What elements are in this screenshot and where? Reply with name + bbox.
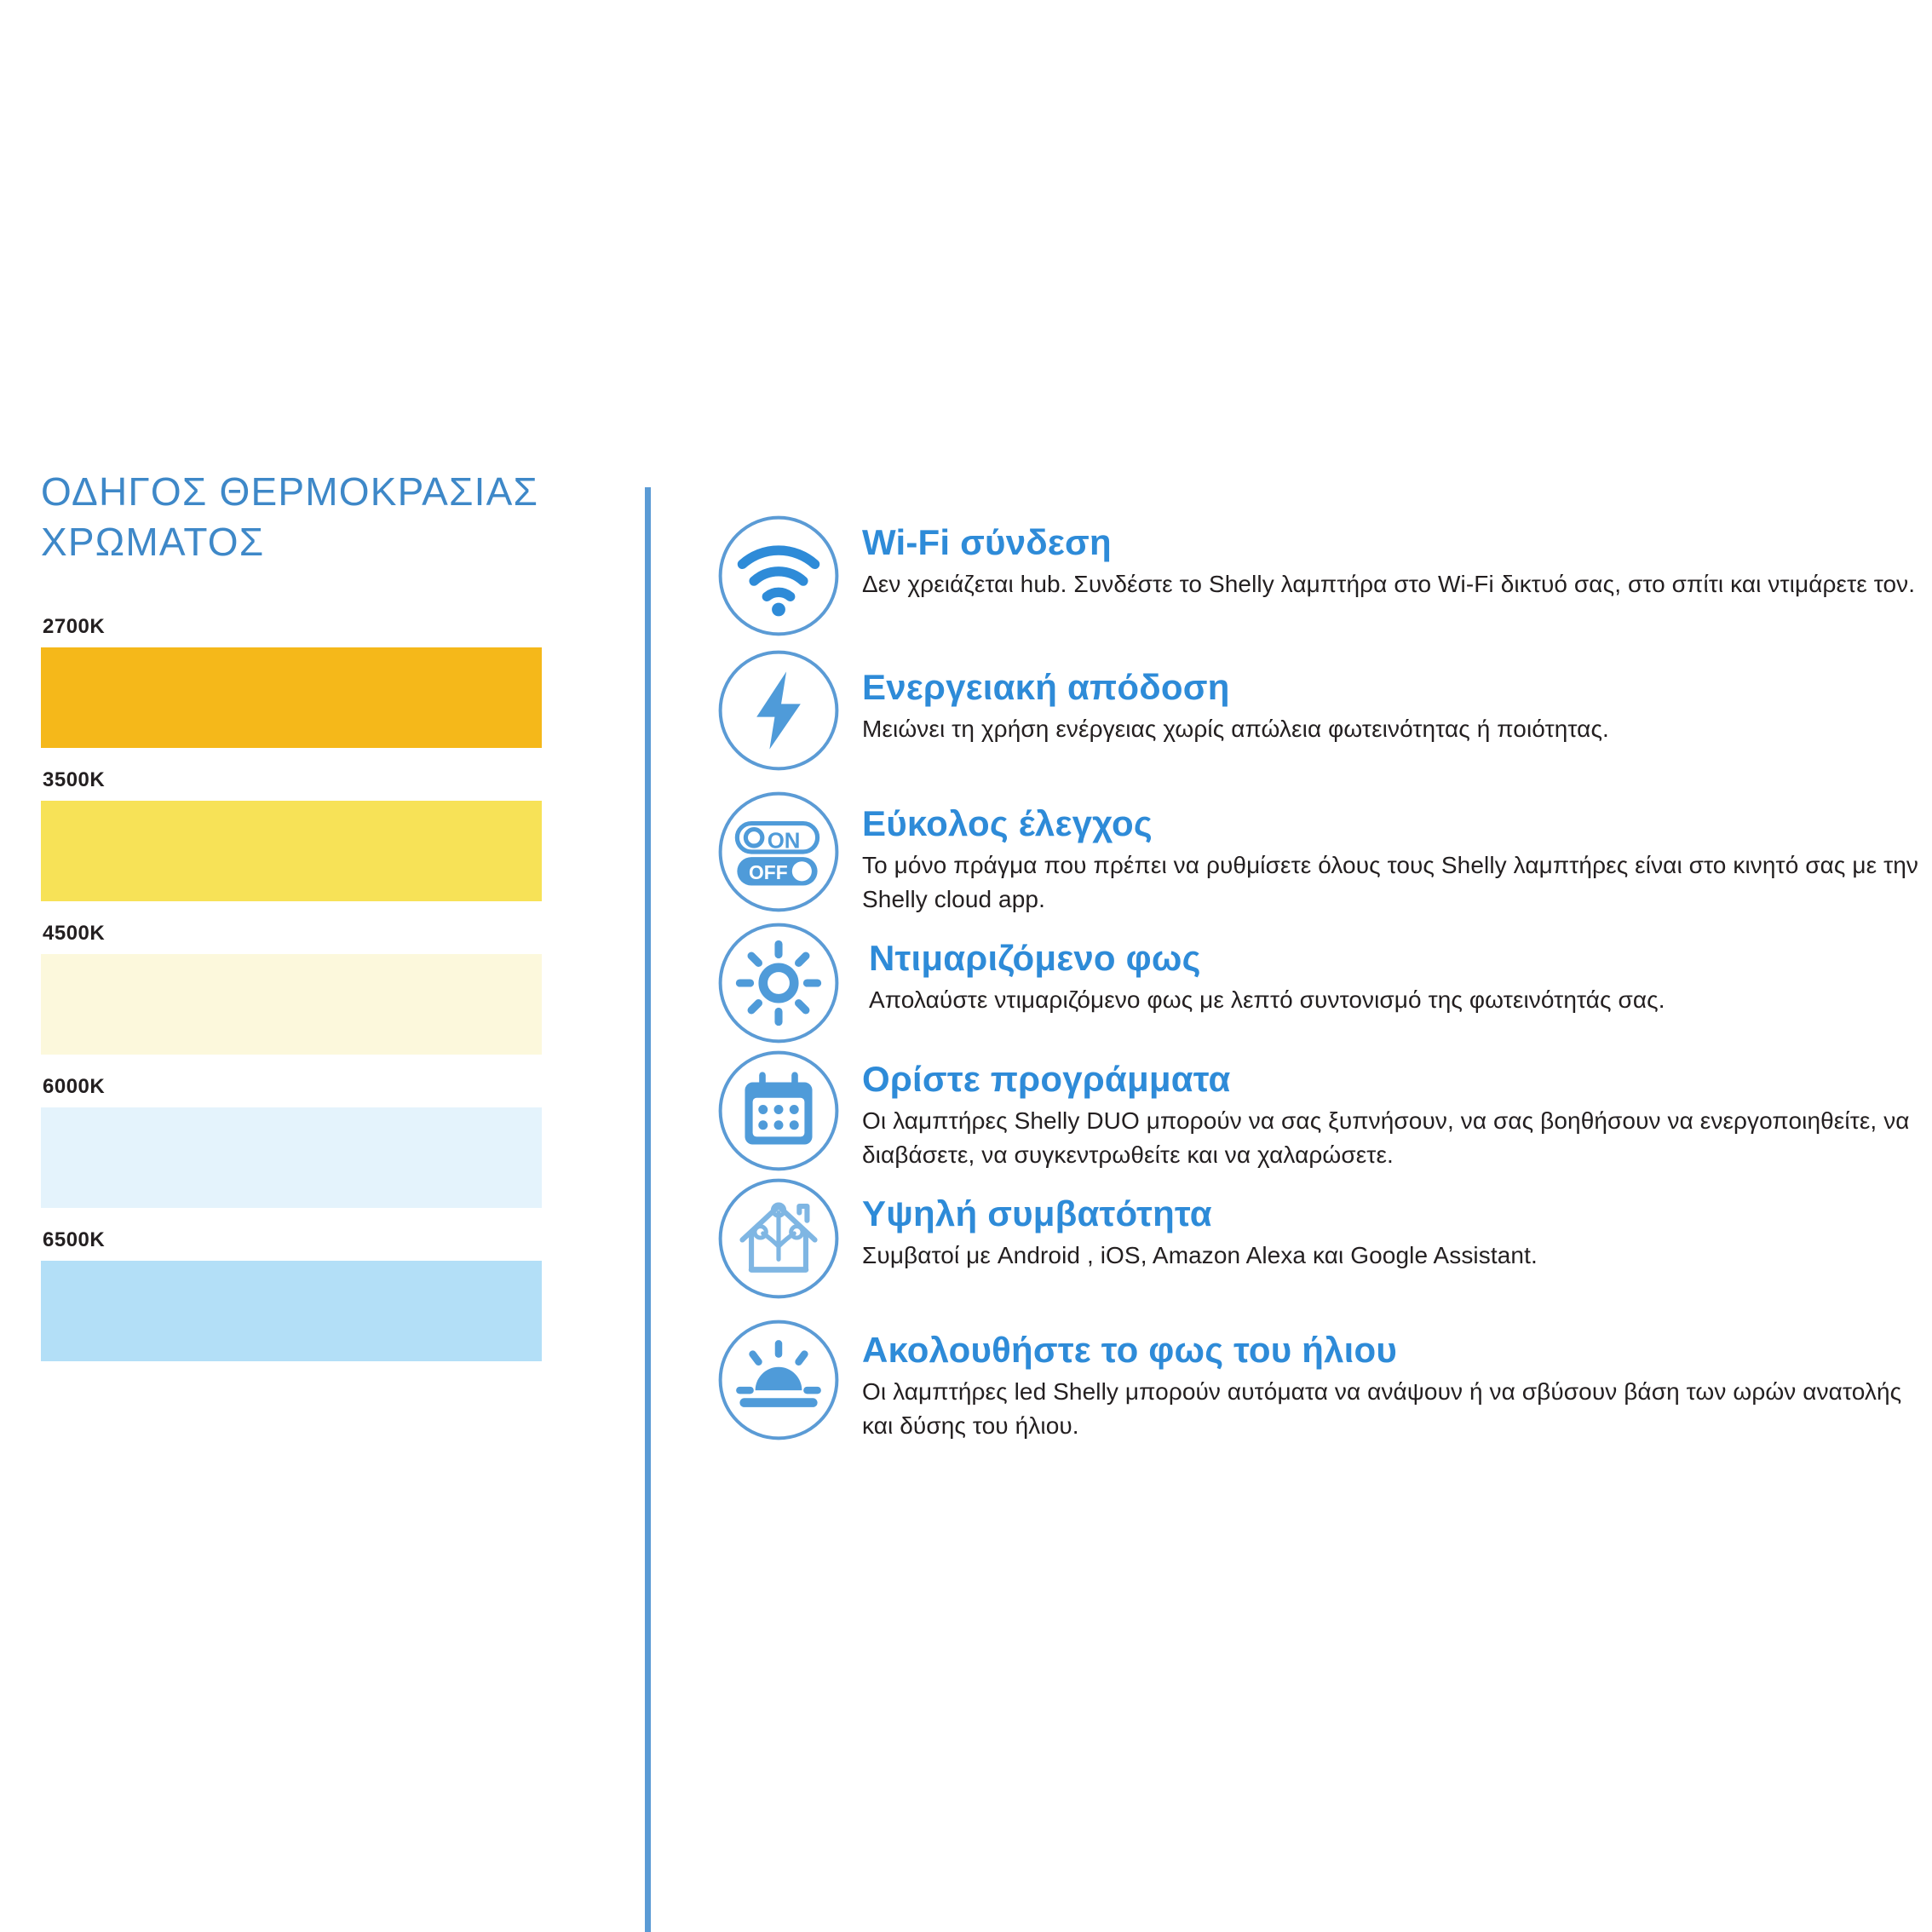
feature-body: Wi-Fi σύνδεση Δεν χρειάζεται hub. Συνδέσ… [862,518,1923,601]
feature-item-easy-control: ON OFF Εύκολος έλεγχος Το μόνο πράγμα πο… [714,794,1923,917]
feature-description: Μειώνει τη χρήση ενέργειας χωρίς απώλεια… [862,712,1923,746]
temperature-label: 6500K [43,1228,603,1252]
color-temperature-guide: ΟΔΗΓΟΣ ΘΕΡΜΟΚΡΑΣΙΑΣ ΧΡΩΜΑΤΟΣ 2700K 3500K… [41,467,603,1382]
temperature-swatch-row: 4500K [41,922,603,1055]
temperature-label: 2700K [43,615,603,639]
svg-text:OFF: OFF [749,861,788,883]
temperature-swatch [41,1107,542,1208]
feature-description: Το μόνο πράγμα που πρέπει να ρυθμίσετε ό… [862,848,1923,917]
page-title: ΟΔΗΓΟΣ ΘΕΡΜΟΚΡΑΣΙΑΣ ΧΡΩΜΑΤΟΣ [41,467,603,567]
feature-list: Wi-Fi σύνδεση Δεν χρειάζεται hub. Συνδέσ… [714,518,1923,1457]
temperature-label: 4500K [43,922,603,946]
feature-body: Υψηλή συμβατότητα Συμβατοί με Android , … [862,1181,1923,1273]
feature-description: Δεν χρειάζεται hub. Συνδέστε το Shelly λ… [862,567,1923,601]
wifi-icon [714,511,843,641]
feature-item-dimmable-light: Ντιμαριζόμενο φως Απολαύστε ντιμαριζόμεν… [714,925,1923,1048]
smart-home-icon [714,1174,843,1303]
feature-item-follow-sunlight: Ακολουθήστε το φως του ήλιου Οι λαμπτήρε… [714,1322,1923,1445]
feature-body: Ενεργειακή απόδοση Μειώνει τη χρήση ενέρ… [862,653,1923,746]
feature-title: Ορίστε προγράμματα [862,1060,1923,1099]
feature-title: Ενεργειακή απόδοση [862,668,1923,707]
temperature-swatch [41,647,542,748]
feature-description: Απολαύστε ντιμαριζόμενο φως με λεπτό συν… [862,983,1923,1017]
feature-item-schedules: Ορίστε προγράμματα Οι λαμπτήρες Shelly D… [714,1053,1923,1176]
vertical-divider [645,487,651,1932]
feature-description: Οι λαμπτήρες Shelly DUO μπορούν να σας ξ… [862,1104,1923,1172]
temperature-swatch [41,1261,542,1361]
feature-title: Ντιμαριζόμενο φως [862,939,1923,978]
feature-description: Οι λαμπτήρες led Shelly μπορούν αυτόματα… [862,1375,1923,1443]
feature-body: Εύκολος έλεγχος Το μόνο πράγμα που πρέπε… [862,794,1923,917]
feature-body: Ορίστε προγράμματα Οι λαμπτήρες Shelly D… [862,1053,1923,1172]
feature-title: Εύκολος έλεγχος [862,804,1923,843]
feature-item-compatibility: Υψηλή συμβατότητα Συμβατοί με Android , … [714,1181,1923,1303]
feature-body: Ακολουθήστε το φως του ήλιου Οι λαμπτήρε… [862,1322,1923,1443]
feature-item-energy-efficiency: Ενεργειακή απόδοση Μειώνει τη χρήση ενέρ… [714,653,1923,775]
temperature-swatch [41,954,542,1055]
feature-title: Wi-Fi σύνδεση [862,523,1923,562]
feature-description: Συμβατοί με Android , iOS, Amazon Alexa … [862,1239,1923,1273]
temperature-label: 6000K [43,1075,603,1099]
temperature-swatch [41,801,542,901]
lightning-bolt-icon [714,646,843,775]
temperature-swatch-row: 2700K [41,615,603,748]
feature-title: Ακολουθήστε το φως του ήλιου [862,1331,1923,1370]
temperature-swatch-row: 6000K [41,1075,603,1208]
temperature-swatch-row: 6500K [41,1228,603,1361]
feature-item-wifi: Wi-Fi σύνδεση Δεν χρειάζεται hub. Συνδέσ… [714,518,1923,641]
on-off-toggle-icon: ON OFF [714,787,843,917]
sunrise-icon [714,1315,843,1445]
temperature-swatch-row: 3500K [41,768,603,901]
brightness-sun-icon [714,918,843,1048]
svg-text:ON: ON [768,829,801,853]
temperature-label: 3500K [43,768,603,792]
feature-body: Ντιμαριζόμενο φως Απολαύστε ντιμαριζόμεν… [862,925,1923,1017]
calendar-icon [714,1046,843,1176]
feature-title: Υψηλή συμβατότητα [862,1194,1923,1233]
